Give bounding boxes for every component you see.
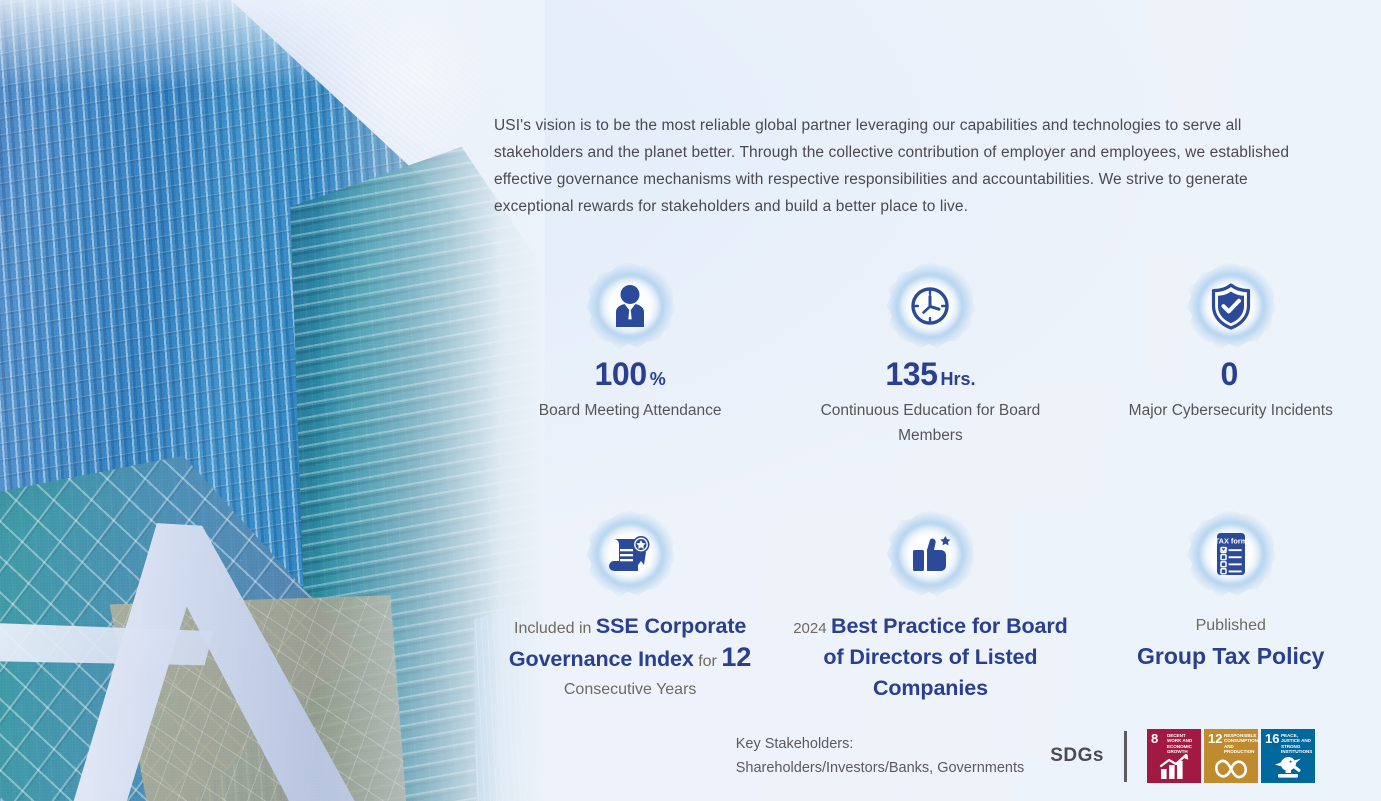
- footer-divider: [1124, 731, 1127, 782]
- skyscraper-hero-image: [0, 0, 545, 801]
- certificate-award-icon: [584, 510, 676, 598]
- award-title: Group Tax Policy: [1137, 642, 1324, 670]
- growth-chart-icon: [1147, 754, 1201, 780]
- award-text: Included in SSE Corporate Governance Ind…: [486, 612, 774, 704]
- sdg-title: Decent Work and Economic Growth: [1167, 733, 1199, 754]
- key-stakeholders: Key Stakeholders: Shareholders/Investors…: [736, 732, 1025, 780]
- stat-board-meeting-attendance: 100% Board Meeting Attendance: [480, 262, 780, 448]
- sdg-tile-8[interactable]: 8 Decent Work and Economic Growth: [1147, 729, 1201, 783]
- stats-row-top: 100% Board Meeting Attendance: [480, 262, 1381, 448]
- key-stakeholders-title: Key Stakeholders:: [736, 732, 1025, 756]
- statistics-grid: 100% Board Meeting Attendance: [480, 262, 1381, 705]
- award-suffix: Consecutive Years: [564, 681, 697, 698]
- award-text: Published Group Tax Policy: [1137, 612, 1324, 670]
- businessperson-icon: [584, 262, 676, 350]
- stat-value: 100%: [595, 358, 666, 390]
- content-column: USI's vision is to be the most reliable …: [480, 0, 1381, 801]
- award-year: 2024: [793, 620, 826, 637]
- sdg-number: 16: [1265, 733, 1279, 744]
- sdg-tile-16[interactable]: 16 Peace, Justice and Strong Institution…: [1261, 729, 1315, 783]
- stat-unit: Hrs.: [941, 369, 976, 389]
- award-prefix: Published: [1137, 612, 1324, 640]
- key-stakeholders-list: Shareholders/Investors/Banks, Government…: [736, 756, 1025, 780]
- dove-gavel-icon: [1261, 754, 1315, 780]
- infinity-icon: [1204, 758, 1258, 780]
- footer-bar: Key Stakeholders: Shareholders/Investors…: [480, 729, 1381, 783]
- stat-unit: %: [650, 369, 666, 389]
- award-title: Best Practice for Board of Directors of …: [823, 614, 1067, 700]
- sdg-tiles: 8 Decent Work and Economic Growth 12: [1147, 729, 1315, 783]
- sdg-title: Responsible Consumption and Production: [1224, 733, 1256, 754]
- sdgs-label: SDGs: [1050, 745, 1104, 767]
- award-group-tax-policy: TAX form Published: [1081, 510, 1381, 705]
- stats-row-bottom: Included in SSE Corporate Governance Ind…: [480, 510, 1381, 705]
- infographic-page: USI's vision is to be the most reliable …: [0, 0, 1381, 801]
- svg-text:TAX form: TAX form: [1214, 536, 1247, 545]
- stat-label: Major Cybersecurity Incidents: [1129, 398, 1333, 423]
- award-best-practice-board: 2024 Best Practice for Board of Director…: [780, 510, 1080, 705]
- award-prefix: Included in: [514, 620, 591, 637]
- stat-label: Continuous Education for Board Members: [790, 398, 1070, 448]
- vision-paragraph: USI's vision is to be the most reliable …: [494, 112, 1314, 220]
- stat-cybersecurity-incidents: 0 Major Cybersecurity Incidents: [1081, 262, 1381, 448]
- stat-value: 0: [1221, 358, 1241, 390]
- sdg-title: Peace, Justice and Strong Institutions: [1281, 733, 1313, 754]
- stat-value: 135Hrs.: [885, 358, 975, 390]
- thumbs-up-star-icon: [884, 510, 976, 598]
- award-number: 12: [721, 642, 751, 672]
- award-text: 2024 Best Practice for Board of Director…: [786, 612, 1074, 705]
- sdg-number: 12: [1208, 733, 1222, 744]
- award-mid: for: [698, 653, 717, 670]
- stat-label: Board Meeting Attendance: [539, 398, 722, 423]
- clock-icon: [884, 262, 976, 350]
- tax-form-icon: TAX form: [1185, 510, 1277, 598]
- stat-continuous-education: 135Hrs. Continuous Education for Board M…: [780, 262, 1080, 448]
- sdg-tile-12[interactable]: 12 Responsible Consumption and Productio…: [1204, 729, 1258, 783]
- award-sse-governance-index: Included in SSE Corporate Governance Ind…: [480, 510, 780, 705]
- sdg-number: 8: [1151, 733, 1158, 744]
- shield-check-icon: [1185, 262, 1277, 350]
